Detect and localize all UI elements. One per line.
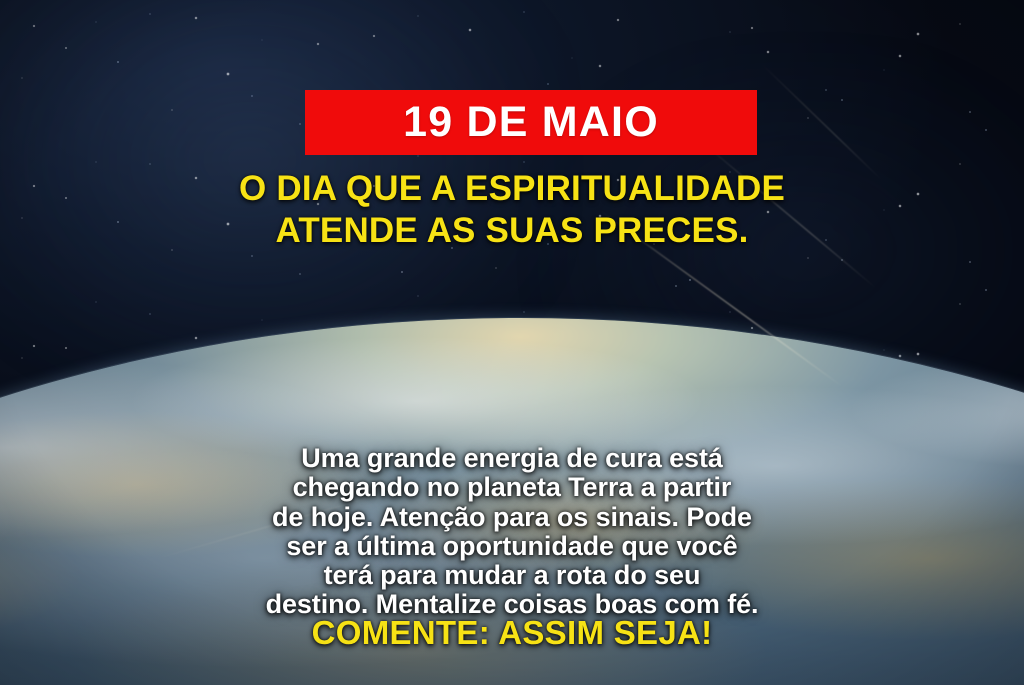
date-banner-label: 19 DE MAIO xyxy=(403,101,659,144)
call-to-action-text: COMENTE: ASSIM SEJA! xyxy=(0,616,1024,649)
body-line-5: terá para mudar a rota do seu xyxy=(0,561,1024,590)
body-line-4: ser a última oportunidade que você xyxy=(0,532,1024,561)
poster-content: 19 DE MAIO O DIA QUE A ESPIRITUALIDADE A… xyxy=(0,0,1024,685)
headline: O DIA QUE A ESPIRITUALIDADE ATENDE AS SU… xyxy=(0,168,1024,251)
headline-line-2: ATENDE AS SUAS PRECES. xyxy=(0,210,1024,252)
body-paragraph: Uma grande energia de cura está chegando… xyxy=(0,444,1024,620)
headline-line-1: O DIA QUE A ESPIRITUALIDADE xyxy=(0,168,1024,210)
body-line-2: chegando no planeta Terra a partir xyxy=(0,473,1024,502)
poster-canvas: 19 DE MAIO O DIA QUE A ESPIRITUALIDADE A… xyxy=(0,0,1024,685)
body-line-1: Uma grande energia de cura está xyxy=(0,444,1024,473)
body-line-3: de hoje. Atenção para os sinais. Pode xyxy=(0,503,1024,532)
date-banner: 19 DE MAIO xyxy=(305,90,757,155)
